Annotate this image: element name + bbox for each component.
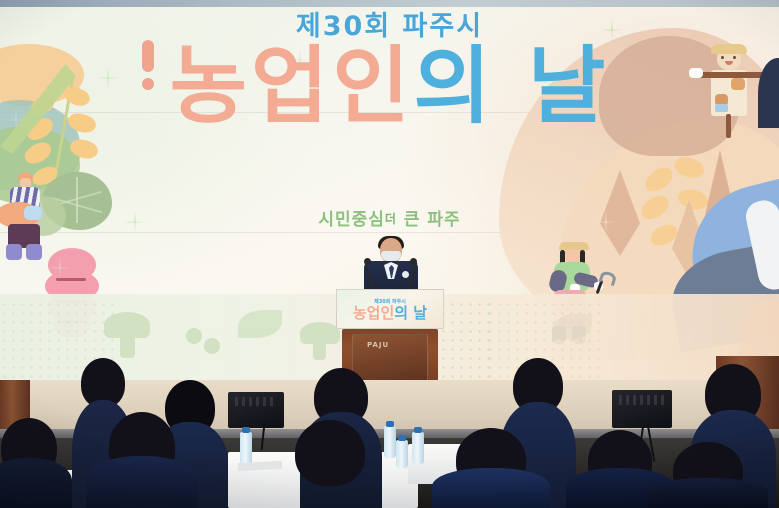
stage-monitor-speaker-right bbox=[612, 390, 672, 428]
water-bottle bbox=[396, 440, 408, 468]
illustration-leaf-outline bbox=[238, 310, 282, 338]
microphone-head bbox=[410, 258, 417, 265]
audience-shoulders bbox=[432, 468, 550, 508]
speaker-grille bbox=[235, 397, 278, 406]
event-photo-scene: 제30회 파주시 농업인의 날 시민중심더 큰 파주 bbox=[0, 0, 779, 508]
audience-shoulders bbox=[272, 460, 388, 508]
face-mask bbox=[381, 251, 401, 261]
illustration-peach-dot bbox=[142, 78, 154, 90]
podium-sign: 제30회 파주시 농업인의 날 bbox=[336, 289, 444, 329]
subtitle-tail: 큰 파주 bbox=[404, 210, 461, 230]
podium-title-part1: 농업인 bbox=[353, 304, 394, 322]
lapel-badge bbox=[402, 271, 409, 278]
banner-title-part1: 농업인 bbox=[170, 37, 414, 135]
illustration-berry bbox=[186, 328, 202, 344]
water-bottle bbox=[412, 432, 424, 464]
illustration-berry bbox=[204, 338, 220, 354]
banner-top-band bbox=[0, 0, 779, 7]
illustration-mushroom-stem bbox=[313, 340, 326, 360]
water-bottle bbox=[240, 432, 252, 466]
audience-member bbox=[86, 412, 198, 508]
banner-subtitle: 시민중심더 큰 파주 bbox=[0, 205, 779, 230]
paju-brand-logo: PAJU bbox=[367, 341, 389, 349]
audience-member bbox=[648, 442, 768, 508]
illustration-scarecrow bbox=[697, 40, 761, 144]
bottle-cap bbox=[398, 435, 406, 441]
bottle-cap bbox=[242, 427, 250, 433]
audience-member bbox=[432, 428, 550, 508]
audience-shoulders bbox=[86, 456, 198, 508]
speaker-grille bbox=[619, 395, 665, 405]
illustration-peach-pill bbox=[142, 40, 154, 72]
subtitle-main: 시민중심 bbox=[318, 210, 385, 230]
subtitle-emphasis: 더 bbox=[385, 212, 397, 226]
audience-shoulders bbox=[648, 478, 768, 508]
microphone-head bbox=[364, 258, 371, 265]
illustration-mushroom-stem bbox=[120, 334, 135, 358]
audience-member bbox=[272, 420, 388, 508]
speaker-person bbox=[360, 238, 422, 294]
audience-member bbox=[0, 418, 72, 508]
podium-title-part2: 의 날 bbox=[394, 304, 427, 322]
audience-shoulders bbox=[0, 458, 72, 508]
bottle-cap bbox=[414, 427, 422, 433]
podium-sign-title: 농업인의 날 bbox=[353, 306, 427, 321]
